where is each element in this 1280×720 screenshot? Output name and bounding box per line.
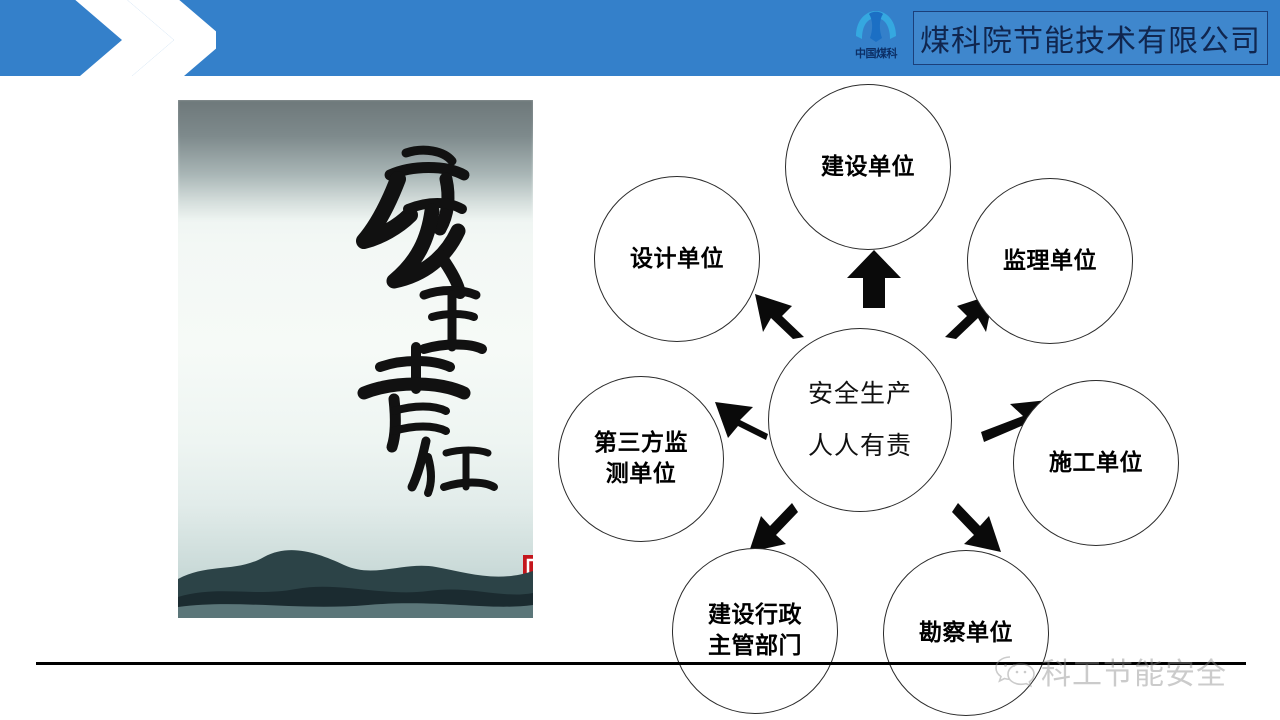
responsibility-radial-diagram: 安全生产 人人有责 建设单位 监理单位 施工单位 勘察单位 建设行政 主管部门 … bbox=[540, 80, 1220, 720]
double-chevron-right-icon bbox=[46, 0, 216, 76]
poster-calligraphy bbox=[328, 135, 518, 505]
center-node: 安全生产 人人有责 bbox=[768, 328, 952, 512]
poster-mountains bbox=[178, 513, 533, 618]
wechat-icon bbox=[995, 654, 1035, 688]
node-right-label: 施工单位 bbox=[1049, 448, 1143, 479]
node-lower-right-label: 勘察单位 bbox=[919, 618, 1013, 649]
node-top[interactable]: 建设单位 bbox=[785, 84, 951, 250]
china-coal-logo-icon bbox=[849, 8, 903, 48]
node-top-label: 建设单位 bbox=[821, 152, 915, 183]
node-lower-left[interactable]: 建设行政 主管部门 bbox=[672, 548, 838, 714]
center-line-1: 安全生产 bbox=[808, 368, 912, 420]
node-left-label: 第三方监 测单位 bbox=[594, 428, 688, 490]
node-left[interactable]: 第三方监 测单位 bbox=[558, 376, 724, 542]
node-lower-left-label: 建设行政 主管部门 bbox=[708, 600, 802, 662]
company-name: 煤科院节能技术有限公司 bbox=[920, 16, 1261, 60]
node-upper-left-label: 设计单位 bbox=[630, 244, 724, 275]
node-upper-right[interactable]: 监理单位 bbox=[967, 178, 1133, 344]
center-line-2: 人人有责 bbox=[808, 420, 912, 472]
watermark: 科工节能安全 bbox=[995, 648, 1255, 694]
safety-responsibility-poster bbox=[178, 100, 533, 618]
node-right[interactable]: 施工单位 bbox=[1013, 380, 1179, 546]
header-bar: 中国煤科 煤科院节能技术有限公司 bbox=[0, 0, 1280, 76]
logo-caption: 中国煤科 bbox=[845, 48, 907, 61]
watermark-text: 科工节能安全 bbox=[1041, 649, 1227, 693]
company-name-box: 煤科院节能技术有限公司 bbox=[913, 11, 1268, 65]
node-upper-right-label: 监理单位 bbox=[1003, 246, 1097, 277]
company-logo: 中国煤科 bbox=[845, 8, 907, 70]
node-upper-left[interactable]: 设计单位 bbox=[594, 176, 760, 342]
